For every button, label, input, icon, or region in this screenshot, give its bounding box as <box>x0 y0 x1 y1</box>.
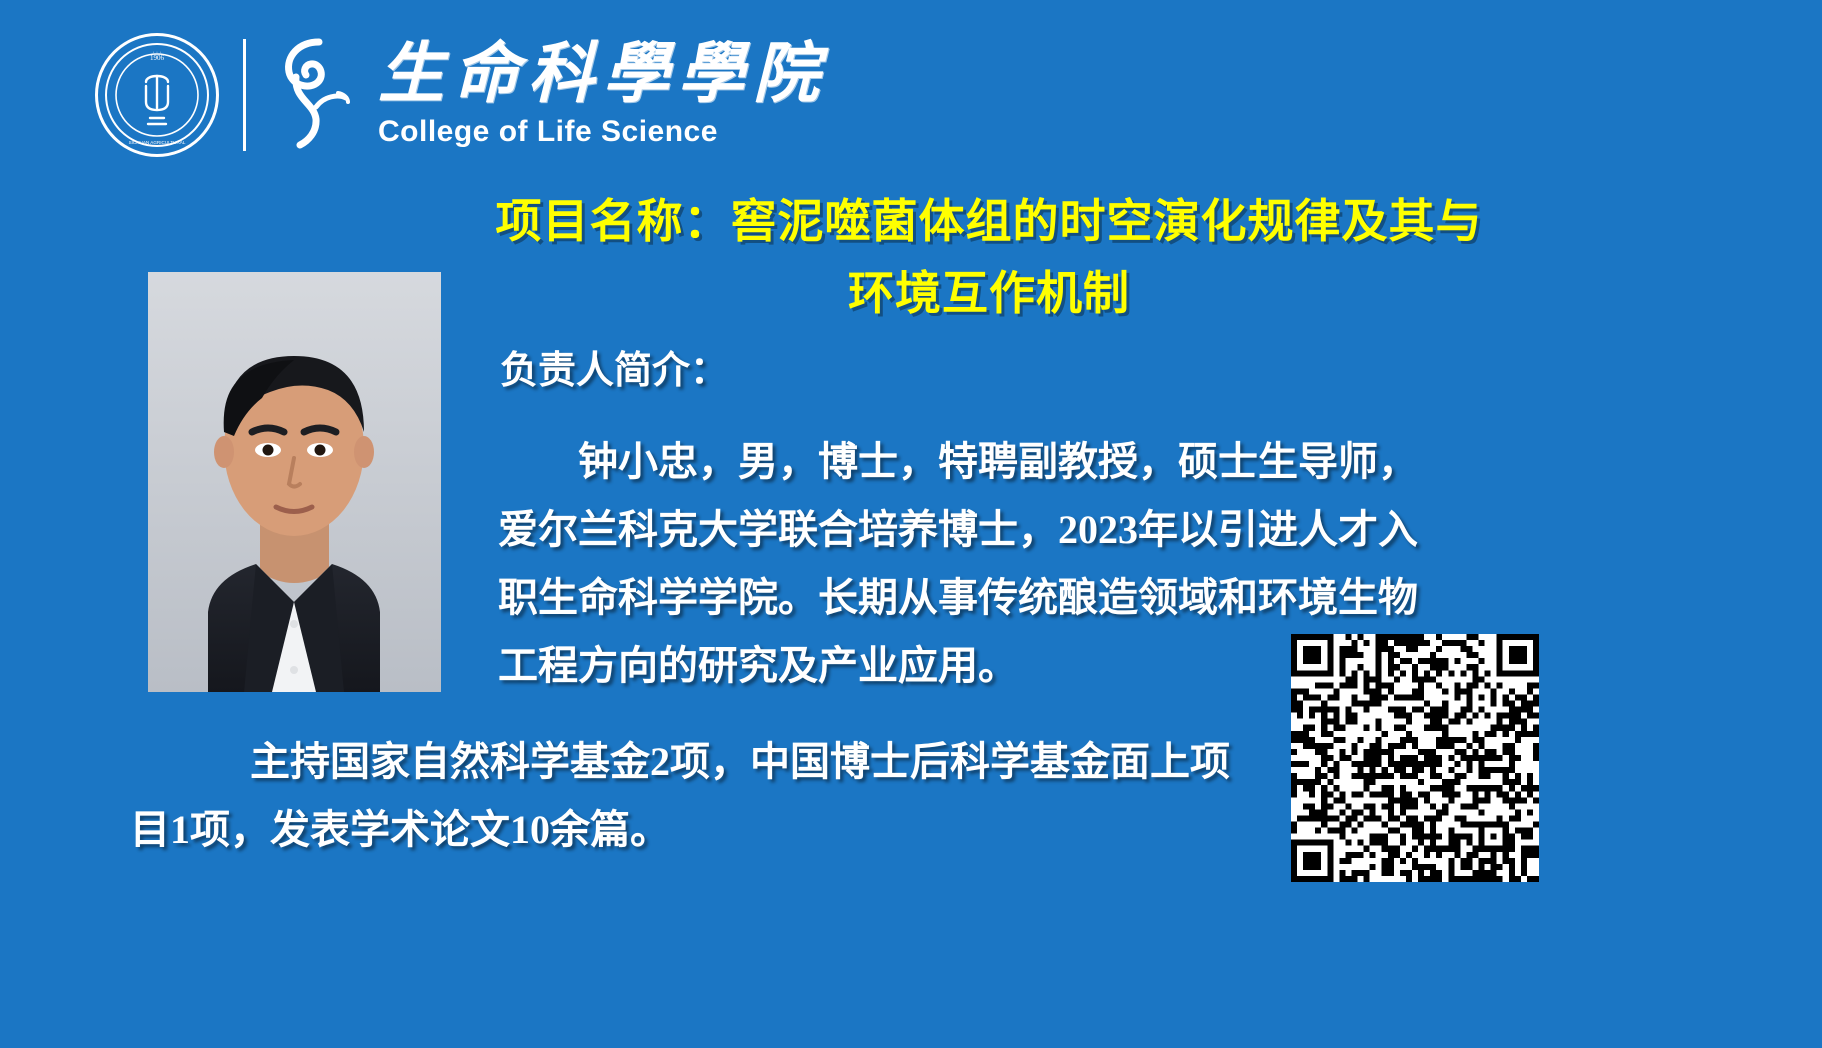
college-name-block: 生命科學學院 College of Life Science <box>378 42 828 147</box>
life-sprout-logo-icon <box>272 33 364 156</box>
college-name-en: College of Life Science <box>378 117 828 147</box>
bio-line: 爱尔兰科克大学联合培养博士，2023年以引进人才入 <box>498 496 1498 564</box>
bio-line: 钟小忠，男，博士，特聘副教授，硕士生导师， <box>498 428 1498 496</box>
header-divider <box>243 39 246 151</box>
project-title: 项目名称：窖泥噬菌体组的时空演化规律及其与 环境互作机制 <box>488 186 1490 330</box>
grants-line: 目1项，发表学术论文10余篇。 <box>130 796 1290 864</box>
portrait-photo <box>148 272 441 692</box>
university-seal-icon: 1906 · · · SICHUAN AGRICULTURAL <box>95 33 219 157</box>
qr-code-icon <box>1291 634 1539 882</box>
college-name-cn: 生命科學學院 <box>378 42 828 108</box>
portrait-artwork-icon <box>148 272 441 692</box>
qr-code[interactable] <box>1291 634 1539 882</box>
bio-section-label: 负责人简介： <box>500 348 728 394</box>
bio-line: 职生命科学学院。长期从事传统酿造领域和环境生物 <box>498 564 1498 632</box>
svg-text:SICHUAN AGRICULTURAL: SICHUAN AGRICULTURAL <box>129 140 186 145</box>
seal-artwork-icon: 1906 · · · SICHUAN AGRICULTURAL <box>98 36 216 154</box>
project-title-line-1: 项目名称：窖泥噬菌体组的时空演化规律及其与 <box>488 186 1490 258</box>
project-title-line-2: 环境互作机制 <box>488 258 1490 330</box>
grants-paragraph: 主持国家自然科学基金2项，中国博士后科学基金面上项 目1项，发表学术论文10余篇… <box>130 728 1290 864</box>
header-brand-bar: 1906 · · · SICHUAN AGRICULTURAL <box>95 32 828 157</box>
svg-text:· · ·: · · · <box>153 50 162 56</box>
slide-background: 1906 · · · SICHUAN AGRICULTURAL <box>0 0 1822 1048</box>
grants-line: 主持国家自然科学基金2项，中国博士后科学基金面上项 <box>130 728 1290 796</box>
